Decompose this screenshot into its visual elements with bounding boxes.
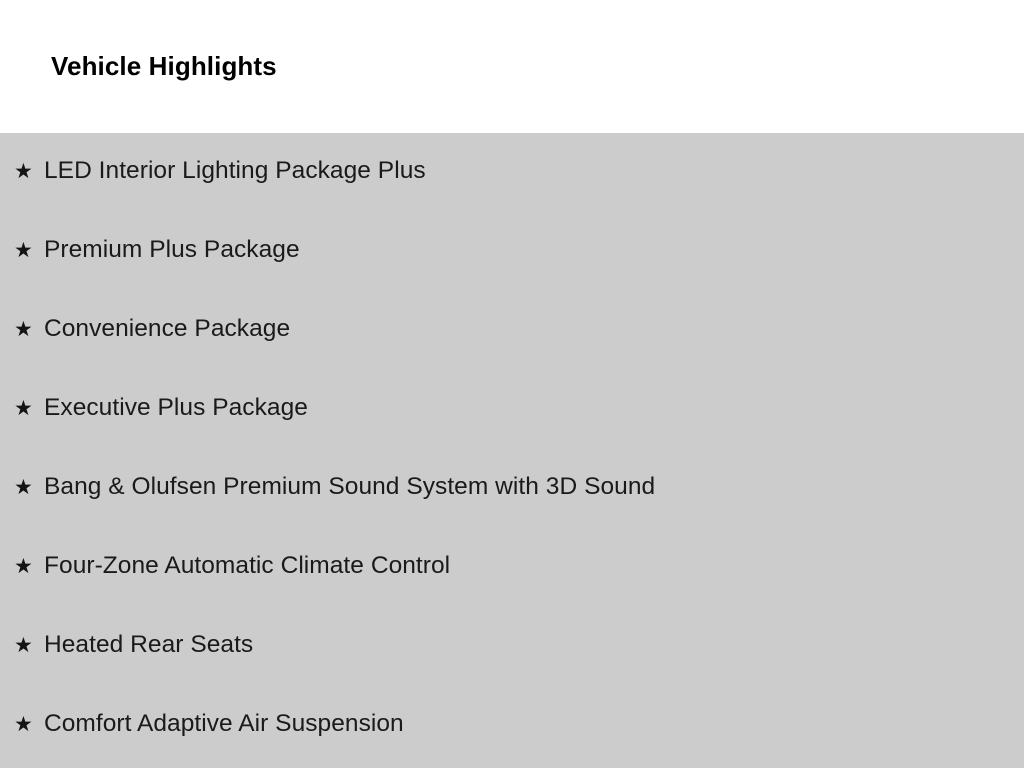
list-item: ★ Convenience Package [0,316,1024,395]
vehicle-highlights-panel: ★ LED Interior Lighting Package Plus ★ P… [0,133,1024,768]
list-item-label: LED Interior Lighting Package Plus [44,158,426,184]
list-item-label: Premium Plus Package [44,237,300,263]
list-item-label: Executive Plus Package [44,395,308,421]
star-icon: ★ [14,712,44,738]
star-icon: ★ [14,396,44,422]
list-item: ★ Comfort Adaptive Air Suspension [0,711,1024,768]
star-icon: ★ [14,238,44,264]
list-item: ★ Executive Plus Package [0,395,1024,474]
list-item: ★ LED Interior Lighting Package Plus [0,133,1024,237]
list-item-label: Bang & Olufsen Premium Sound System with… [44,474,655,500]
list-item: ★ Four-Zone Automatic Climate Control [0,553,1024,632]
vehicle-highlights-page: Vehicle Highlights ★ LED Interior Lighti… [0,0,1024,768]
star-icon: ★ [14,633,44,659]
list-item: ★ Premium Plus Package [0,237,1024,316]
page-header: Vehicle Highlights [0,0,1024,133]
list-item-label: Four-Zone Automatic Climate Control [44,553,450,579]
list-item-label: Heated Rear Seats [44,632,253,658]
page-title: Vehicle Highlights [51,50,277,82]
list-item: ★ Heated Rear Seats [0,632,1024,711]
star-icon: ★ [14,317,44,343]
vehicle-highlights-list: ★ LED Interior Lighting Package Plus ★ P… [0,133,1024,768]
star-icon: ★ [14,159,44,185]
star-icon: ★ [14,554,44,580]
star-icon: ★ [14,475,44,501]
list-item-label: Convenience Package [44,316,290,342]
list-item: ★ Bang & Olufsen Premium Sound System wi… [0,474,1024,553]
list-item-label: Comfort Adaptive Air Suspension [44,711,404,737]
